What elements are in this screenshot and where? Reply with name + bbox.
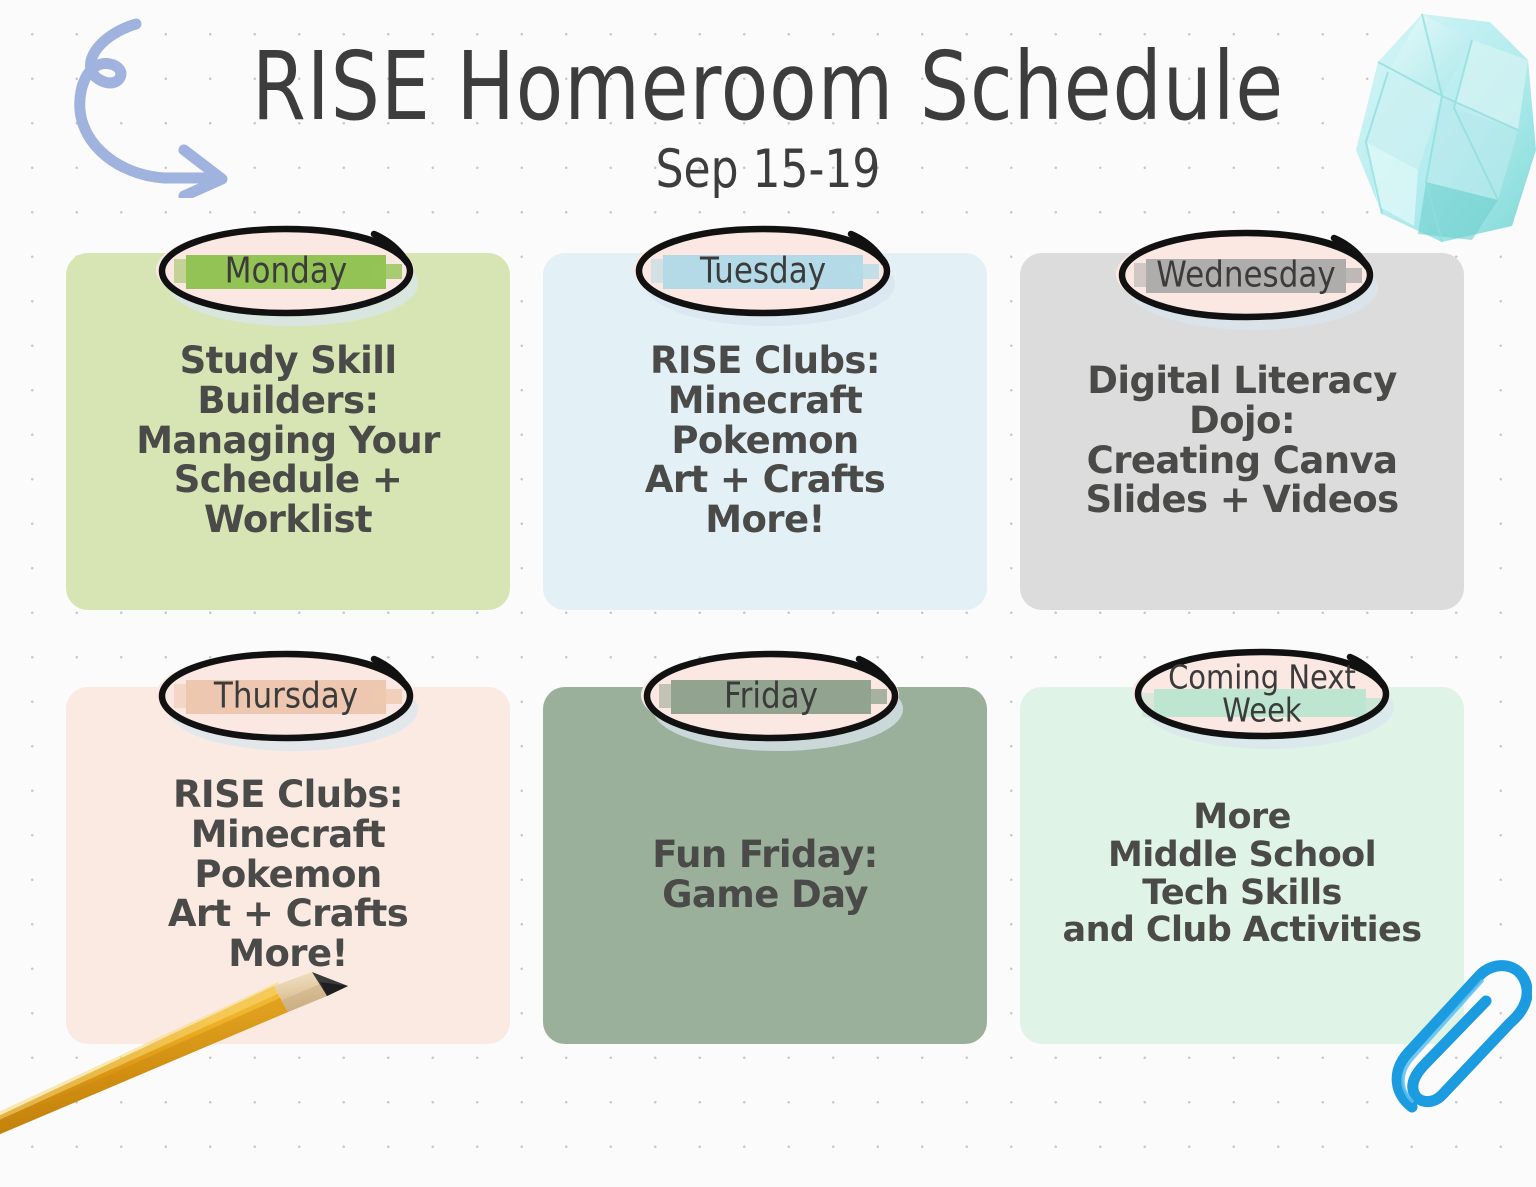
schedule-poster: RISE Homeroom Schedule Sep 15-19 Study S… <box>0 0 1536 1187</box>
card-friday-body: Fun Friday: Game Day <box>557 835 973 915</box>
curly-arrow-doodle <box>38 18 248 198</box>
card-monday-body: Study Skill Builders: Managing Your Sche… <box>80 341 496 541</box>
day-label-coming-next-week[interactable]: Coming Next Week <box>1128 645 1396 743</box>
day-label-thursday[interactable]: Thursday <box>152 647 420 745</box>
pill-label: Tuesday <box>629 215 897 328</box>
pill-label: Thursday <box>152 640 420 753</box>
day-label-monday[interactable]: Monday <box>152 222 420 320</box>
pill-label: Friday <box>637 640 905 753</box>
day-label-friday[interactable]: Friday <box>637 647 905 745</box>
pill-label: Monday <box>152 215 420 328</box>
card-thursday-body: RISE Clubs: Minecraft Pokemon Art + Craf… <box>80 775 496 975</box>
day-label-wednesday[interactable]: Wednesday <box>1112 226 1380 324</box>
card-tuesday-body: RISE Clubs: Minecraft Pokemon Art + Craf… <box>557 341 973 541</box>
page-title: RISE Homeroom Schedule <box>23 40 1513 134</box>
card-wednesday-body: Digital Literacy Dojo: Creating Canva Sl… <box>1034 361 1450 521</box>
page-subtitle: Sep 15-19 <box>0 144 1536 197</box>
card-coming-next-week-body: More Middle School Tech Skills and Club … <box>1034 799 1450 950</box>
title-block: RISE Homeroom Schedule Sep 15-19 <box>0 40 1536 188</box>
pill-label: Wednesday <box>1112 219 1380 332</box>
pill-label: Coming Next Week <box>1128 638 1396 751</box>
day-label-tuesday[interactable]: Tuesday <box>629 222 897 320</box>
